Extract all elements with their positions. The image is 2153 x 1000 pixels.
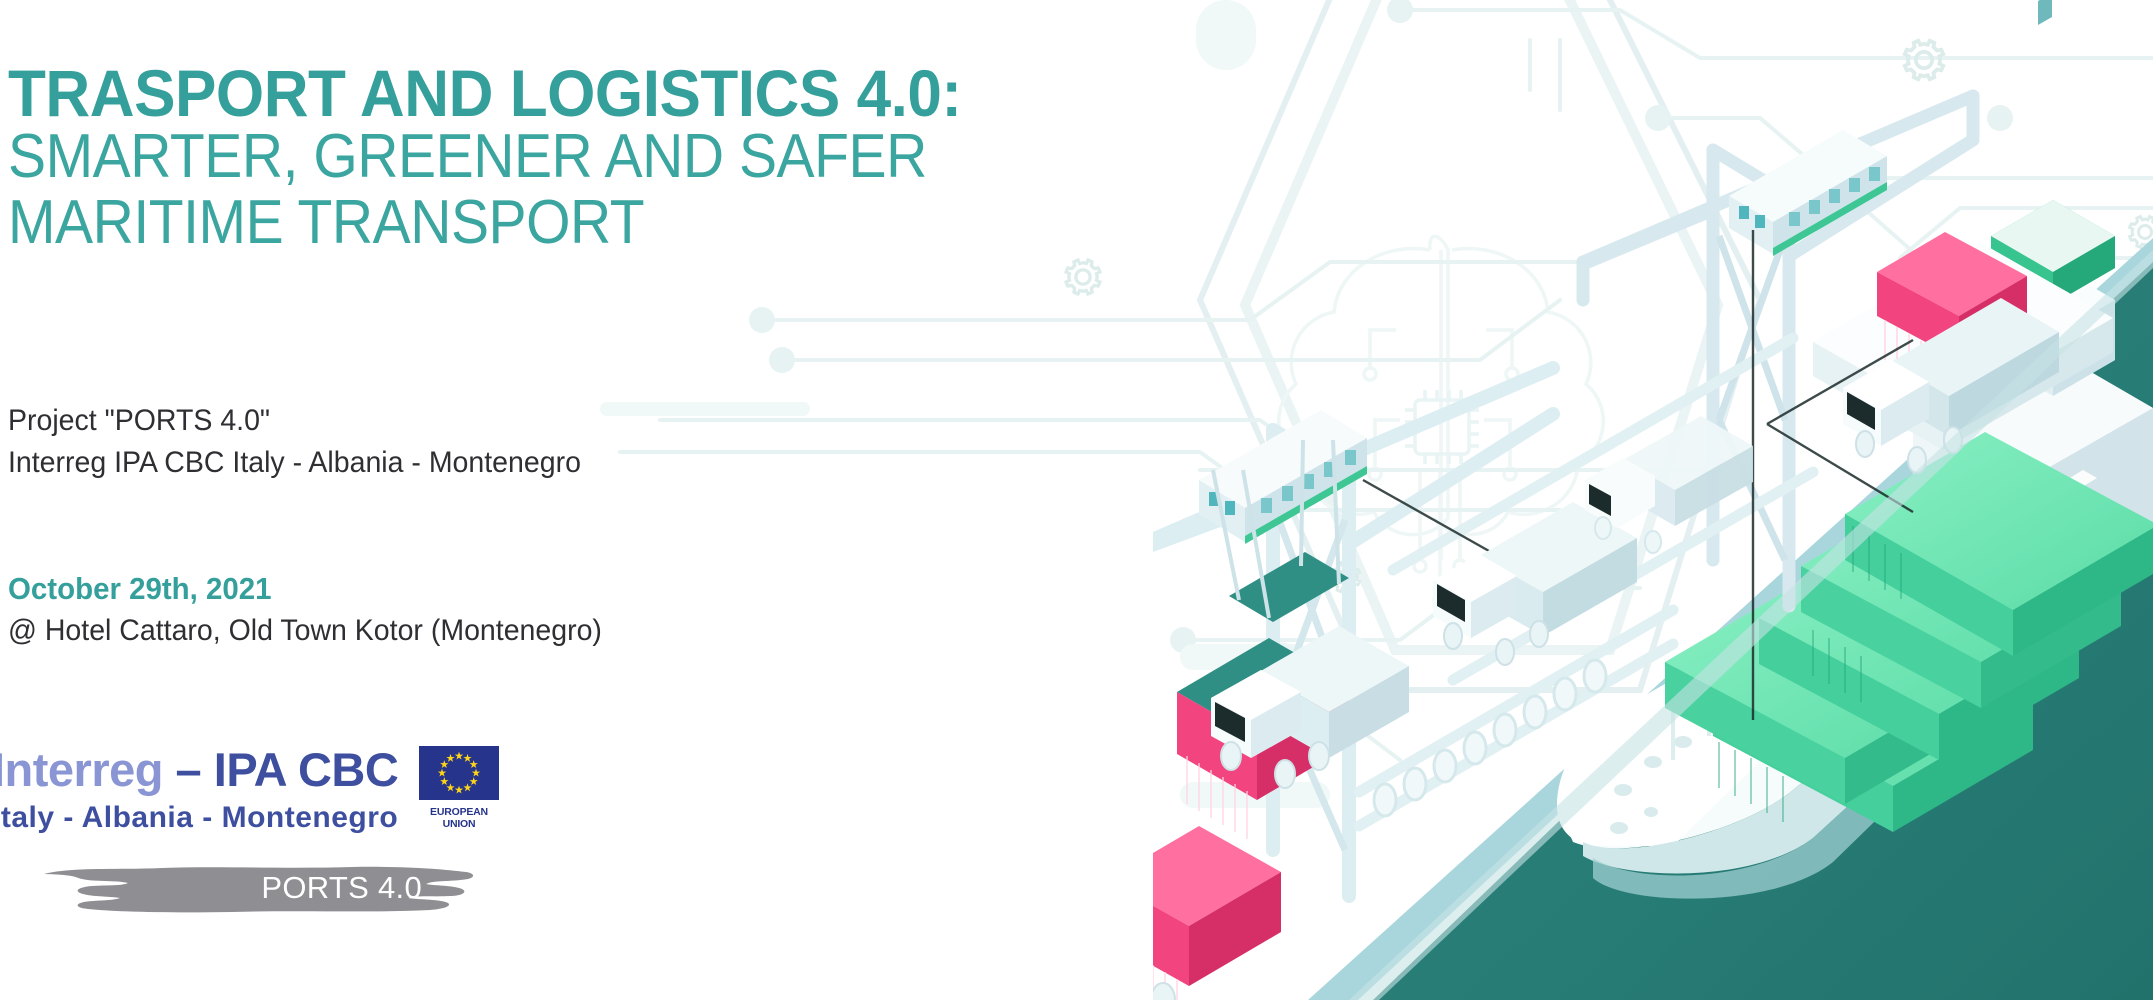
ports-brush-label: PORTS 4.0 [32,860,482,916]
title-line-3: MARITIME TRANSPORT [8,190,941,256]
truck-center-small [1585,416,1753,553]
project-name: Project "PORTS 4.0" [8,400,581,442]
event-block: October 29th, 2021 @ Hotel Cattaro, Old … [8,568,633,652]
eu-flag-icon [419,746,499,800]
text-content: TRASPORT AND LOGISTICS 4.0: SMARTER, GRE… [0,0,1350,1000]
event-venue: @ Hotel Cattaro, Old Town Kotor (Montene… [8,610,602,652]
interreg-wordmark: Interreg – IPA CBC [0,742,398,797]
interreg-countries: Italy - Albania - Montenegro [0,801,398,835]
interreg-word: Interreg [0,743,163,796]
title-line-1: TRASPORT AND LOGISTICS 4.0: [8,62,962,124]
ports-brush-badge: PORTS 4.0 [32,860,482,916]
eu-stars-icon [419,746,499,800]
event-date: October 29th, 2021 [8,568,602,610]
title-line-2: SMARTER, GREENER AND SAFER [8,124,941,190]
logo-lockup: Interreg – IPA CBC Italy - Albania - Mon… [0,742,712,922]
poster-canvas: TRASPORT AND LOGISTICS 4.0: SMARTER, GRE… [0,0,2153,1000]
headline-block: TRASPORT AND LOGISTICS 4.0: SMARTER, GRE… [8,62,1022,256]
eu-union-label: EUROPEAN UNION [419,806,499,830]
project-programme: Interreg IPA CBC Italy - Albania - Monte… [8,442,581,484]
interreg-dash: – [163,743,214,796]
project-block: Project "PORTS 4.0" Interreg IPA CBC Ita… [8,400,611,484]
eu-emblem: EUROPEAN UNION [419,746,504,841]
interreg-ipa-cbc: IPA CBC [214,743,399,796]
